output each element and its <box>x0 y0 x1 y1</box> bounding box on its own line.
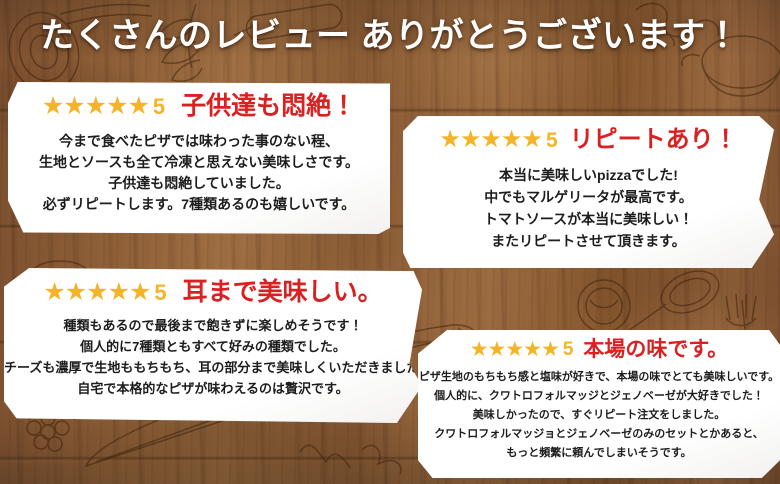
review-line: クワトロフォルマッジョとジェノベーゼのみのセットとかあると、 <box>418 425 780 444</box>
rating-score: 5 <box>154 282 166 304</box>
page-title: たくさんのレビュー ありがとうございます！ <box>0 8 780 57</box>
review-line: トマトソースが本当に美味しい！ <box>403 208 774 230</box>
star-rating-icon: ★★★★★ <box>42 94 149 119</box>
rating-score: 5 <box>153 96 165 118</box>
star-rating-icon: ★★★★★ <box>439 128 542 152</box>
rating-score: 5 <box>563 340 574 359</box>
review-line: 個人的に7種類ともすべて好みの種類でした。 <box>4 336 422 357</box>
review-line: 個人的に、クワトロフォルマッジとジェノベーゼが大好きでした！ <box>418 387 780 406</box>
review-card-4: ★★★★★ 5 本場の味です。 ピザ生地のもちもち感と塩味が好きで、本場の味でと… <box>418 330 780 478</box>
review-line: チーズも濃厚で生地ももちもち、耳の部分まで美味しくいただきました。 <box>4 357 422 378</box>
review-header-3: ★★★★★ 5 耳まで美味しい。 <box>4 280 422 305</box>
review-line: 種類もあるので最後まで飽きずに楽しめそうです！ <box>4 315 422 336</box>
review-line: またリピートさせて頂きます。 <box>403 230 774 252</box>
review-title: リピートあり！ <box>570 128 738 152</box>
review-header-2: ★★★★★ 5 リピートあり！ <box>403 128 774 152</box>
review-header-1: ★★★★★ 5 子供達も悶絶！ <box>8 94 390 119</box>
review-line: 今まで食べたピザでは味わった事のない程、 <box>8 131 390 152</box>
review-body-4: ピザ生地のもちもち感と塩味が好きで、本場の味でとても美味しいです。 個人的に、ク… <box>418 368 780 463</box>
review-line: ピザ生地のもちもち感と塩味が好きで、本場の味でとても美味しいです。 <box>418 368 780 387</box>
review-title: 子供達も悶絶！ <box>181 94 356 119</box>
review-line: 中でもマルゲリータが最高です。 <box>403 186 774 208</box>
review-line: 本当に美味しいpizzaでした! <box>403 164 774 186</box>
review-header-4: ★★★★★ 5 本場の味です。 <box>418 339 780 360</box>
star-rating-icon: ★★★★★ <box>470 339 559 360</box>
review-banner: たくさんのレビュー ありがとうございます！ ★★★★★ 5 子供達も悶絶！ 今ま… <box>0 0 780 484</box>
review-body-2: 本当に美味しいpizzaでした! 中でもマルゲリータが最高です。 トマトソースが… <box>403 164 774 252</box>
review-body-1: 今まで食べたピザでは味わった事のない程、 生地とソースも全て冷凍と思えない美味し… <box>8 131 390 215</box>
review-card-1: ★★★★★ 5 子供達も悶絶！ 今まで食べたピザでは味わった事のない程、 生地と… <box>8 82 390 234</box>
rating-score: 5 <box>546 130 558 151</box>
review-title: 本場の味です。 <box>583 339 728 360</box>
review-line: 自宅で本格的なピザが味わえるのは贅沢です。 <box>4 378 422 399</box>
star-rating-icon: ★★★★★ <box>43 280 150 305</box>
review-line: 生地とソースも全て冷凍と思えない美味しさです。 <box>8 152 390 173</box>
review-title: 耳まで美味しい。 <box>183 280 383 305</box>
review-line: 美味しかったので、すぐリピート注文をしました。 <box>418 406 780 425</box>
review-line: 必ずリピートします。7種類あるのも嬉しいです。 <box>8 194 390 215</box>
review-card-3: ★★★★★ 5 耳まで美味しい。 種類もあるので最後まで飽きずに楽しめそうです！… <box>4 268 422 423</box>
review-card-2: ★★★★★ 5 リピートあり！ 本当に美味しいpizzaでした! 中でもマルゲリ… <box>403 116 774 268</box>
review-body-3: 種類もあるので最後まで飽きずに楽しめそうです！ 個人的に7種類ともすべて好みの種… <box>4 315 422 399</box>
review-line: もっと頻繁に頼んでしまいそうです。 <box>418 444 780 463</box>
review-line: 子供達も悶絶していました。 <box>8 173 390 194</box>
